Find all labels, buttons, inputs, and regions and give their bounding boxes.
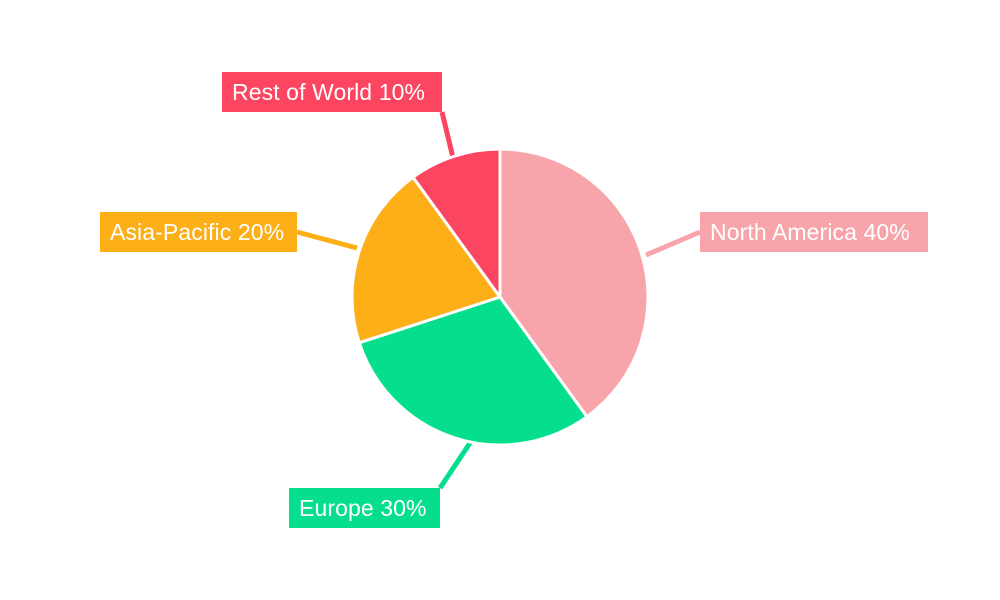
slice-label-text: Rest of World 10% bbox=[232, 72, 425, 112]
slice-label-europe: Europe 30% bbox=[289, 488, 440, 528]
pie-chart-canvas bbox=[0, 0, 1000, 600]
leader-line-europe bbox=[440, 443, 470, 488]
slice-label-rest-of-world: Rest of World 10% bbox=[222, 72, 442, 112]
pie-slices bbox=[352, 149, 648, 445]
slice-label-text: Asia-Pacific 20% bbox=[110, 212, 284, 252]
slice-label-north-america: North America 40% bbox=[700, 212, 928, 252]
leader-line-asia-pacific bbox=[297, 232, 357, 248]
pie-chart: North America 40% Europe 30% Asia-Pacifi… bbox=[0, 0, 1000, 600]
slice-label-text: Europe 30% bbox=[299, 488, 427, 528]
slice-label-text: North America 40% bbox=[710, 212, 910, 252]
leader-line-north-america bbox=[646, 232, 700, 255]
slice-label-asia-pacific: Asia-Pacific 20% bbox=[100, 212, 297, 252]
